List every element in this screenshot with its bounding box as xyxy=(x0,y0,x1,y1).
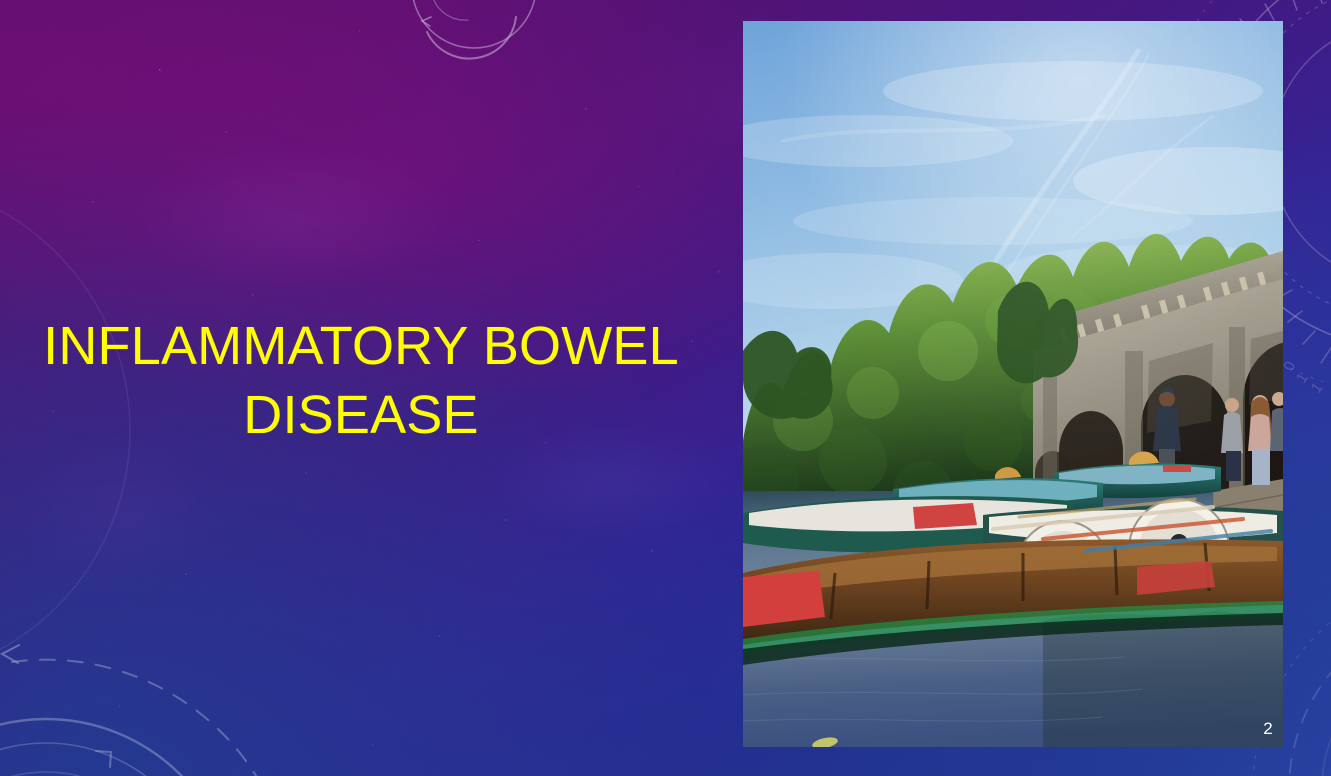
presentation-slide: 0 1 1 xyxy=(0,0,1331,776)
slide-title-block: INFLAMMATORY BOWEL DISEASE xyxy=(0,312,722,450)
slide-number: 2 xyxy=(1255,717,1281,741)
punts-at-magdalen-bridge-photo xyxy=(743,21,1283,747)
page-title: INFLAMMATORY BOWEL DISEASE xyxy=(28,312,694,450)
